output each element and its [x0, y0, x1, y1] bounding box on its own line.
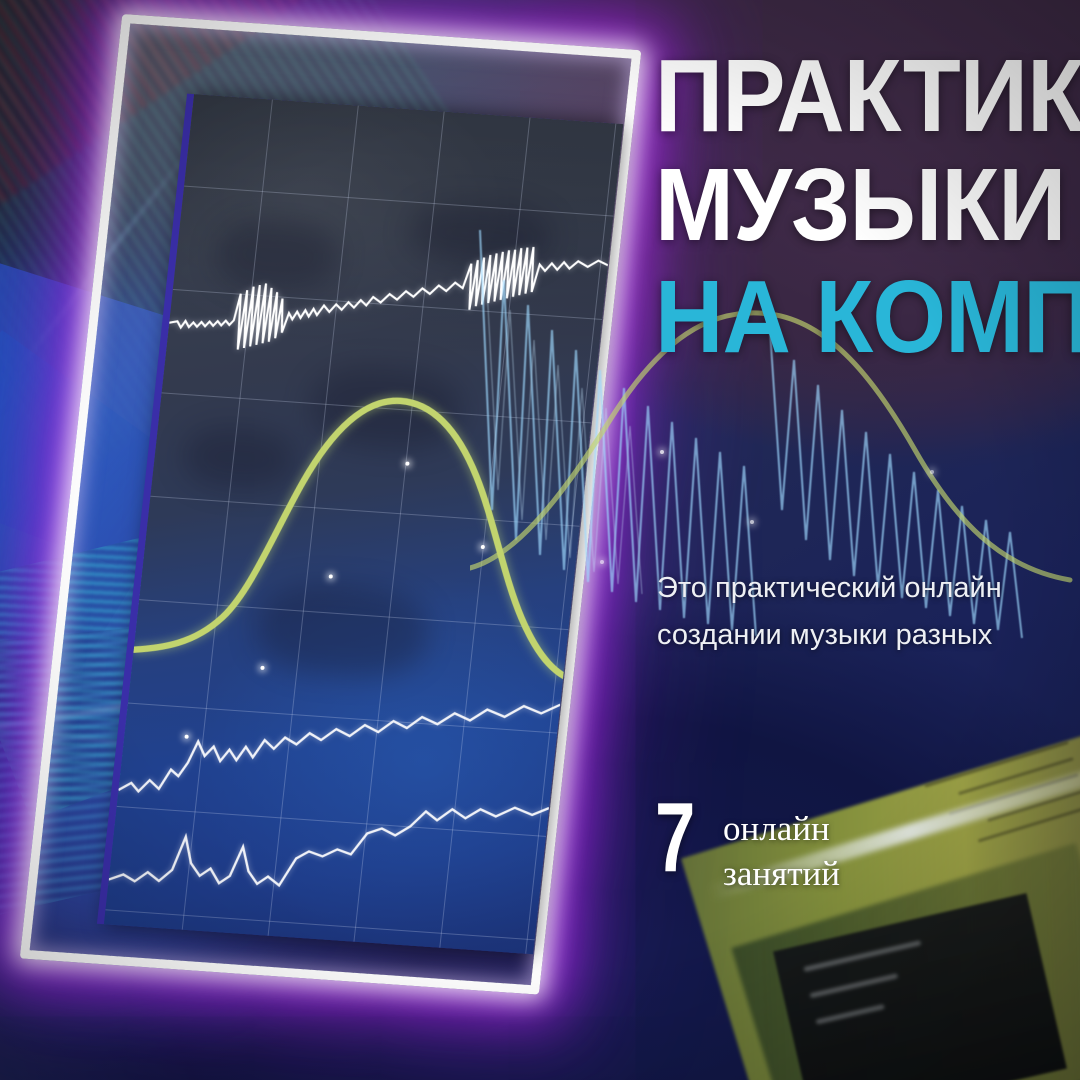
lesson-count-word-1: онлайн: [723, 807, 840, 852]
poster-canvas: ПРАКТИК МУЗЫКИ НА КОМП Это практический …: [0, 0, 1080, 1080]
lede-line-2: создании музыки разных: [657, 612, 1080, 659]
headline-line-3-accent: НА КОМП: [655, 269, 1080, 365]
lesson-count-words: онлайн занятий: [723, 795, 840, 897]
lesson-count-number: 7: [655, 795, 693, 879]
headline-line-1: ПРАКТИК: [655, 38, 1080, 153]
lede-paragraph: Это практический онлайн создании музыки …: [657, 565, 1080, 659]
copy-block: ПРАКТИК МУЗЫКИ НА КОМП Это практический …: [655, 0, 1080, 1080]
lesson-count-word-2: занятий: [723, 852, 840, 897]
lede-line-1: Это практический онлайн: [657, 565, 1080, 612]
sparkle-dot: [600, 560, 604, 564]
lesson-count-block: 7 онлайн занятий: [655, 795, 840, 897]
headline-line-2: МУЗЫКИ: [655, 157, 1080, 253]
page-title: ПРАКТИК МУЗЫКИ НА КОМП: [655, 48, 1080, 364]
